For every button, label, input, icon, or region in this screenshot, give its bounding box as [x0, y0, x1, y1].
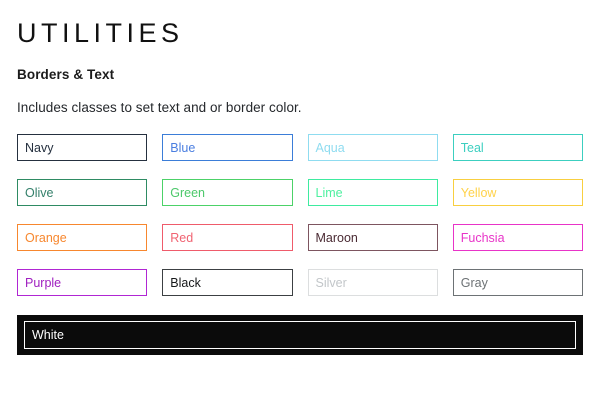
color-swatch-label: Orange: [25, 232, 67, 245]
color-swatch-black[interactable]: Black: [162, 269, 292, 296]
color-swatch-fuchsia[interactable]: Fuchsia: [453, 224, 583, 251]
inverse-color-band: White: [17, 315, 583, 355]
color-swatch-lime[interactable]: Lime: [308, 179, 438, 206]
color-swatch-label: Aqua: [316, 142, 345, 155]
color-swatch-label: Green: [170, 187, 205, 200]
color-swatch-teal[interactable]: Teal: [453, 134, 583, 161]
section-title: Borders & Text: [17, 47, 583, 82]
color-swatch-maroon[interactable]: Maroon: [308, 224, 438, 251]
color-swatch-label: Gray: [461, 277, 488, 290]
color-swatch-label: White: [32, 329, 64, 342]
color-swatch-label: Purple: [25, 277, 61, 290]
color-swatch-label: Silver: [316, 277, 347, 290]
color-swatch-yellow[interactable]: Yellow: [453, 179, 583, 206]
color-swatch-olive[interactable]: Olive: [17, 179, 147, 206]
color-swatch-silver[interactable]: Silver: [308, 269, 438, 296]
color-swatch-orange[interactable]: Orange: [17, 224, 147, 251]
color-swatch-label: Red: [170, 232, 193, 245]
color-swatch-gray[interactable]: Gray: [453, 269, 583, 296]
color-swatch-grid: NavyBlueAquaTealOliveGreenLimeYellowOran…: [17, 134, 583, 296]
utilities-page: UTILITIES Borders & Text Includes classe…: [0, 0, 600, 400]
section-description: Includes classes to set text and or bord…: [17, 82, 583, 115]
color-swatch-purple[interactable]: Purple: [17, 269, 147, 296]
color-swatch-aqua[interactable]: Aqua: [308, 134, 438, 161]
color-swatch-blue[interactable]: Blue: [162, 134, 292, 161]
color-swatch-label: Olive: [25, 187, 53, 200]
color-swatch-white[interactable]: White: [24, 321, 576, 349]
color-swatch-label: Yellow: [461, 187, 497, 200]
color-swatch-label: Fuchsia: [461, 232, 505, 245]
color-swatch-navy[interactable]: Navy: [17, 134, 147, 161]
color-swatch-red[interactable]: Red: [162, 224, 292, 251]
color-swatch-label: Navy: [25, 142, 53, 155]
color-swatch-label: Black: [170, 277, 201, 290]
color-swatch-label: Maroon: [316, 232, 358, 245]
color-swatch-label: Lime: [316, 187, 343, 200]
color-swatch-label: Teal: [461, 142, 484, 155]
page-title: UTILITIES: [17, 0, 583, 47]
color-swatch-label: Blue: [170, 142, 195, 155]
color-swatch-green[interactable]: Green: [162, 179, 292, 206]
